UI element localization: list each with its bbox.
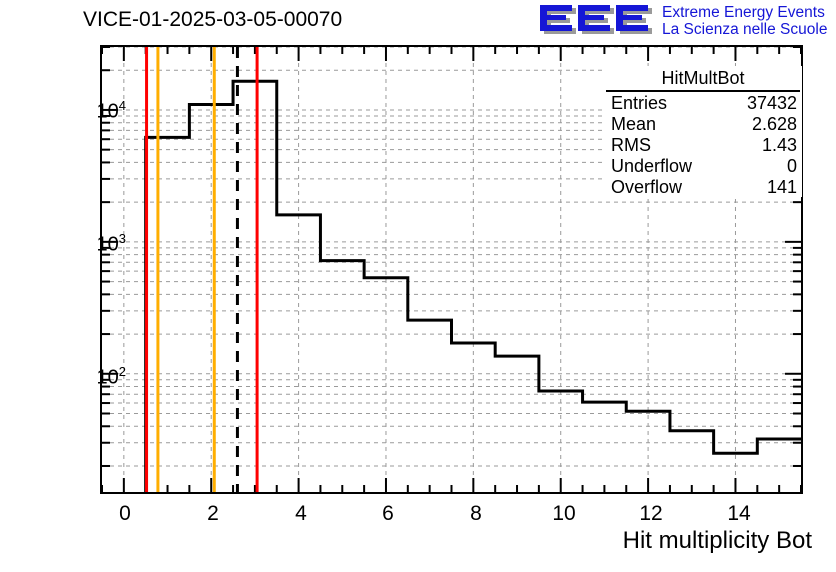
x-axis-title: Hit multiplicity Bot	[623, 527, 812, 555]
x-tick-label-14: 14	[719, 502, 759, 526]
stats-row-underflow: Underflow 0	[605, 156, 801, 177]
stats-row-entries: Entries 37432	[605, 93, 801, 114]
stats-key-entries: Entries	[611, 93, 667, 114]
root-canvas: VICE-01-2025-03-05-00070	[0, 0, 836, 572]
x-tick-label-12: 12	[631, 502, 671, 526]
eee-logo-line2: La Scienza nelle Scuole	[662, 21, 827, 38]
x-tick-label-10: 10	[544, 502, 584, 526]
x-tick-label-6: 6	[368, 502, 408, 526]
stats-key-rms: RMS	[611, 135, 651, 156]
y-tick-label-1e2: 102	[54, 364, 126, 390]
x-tick-label-8: 8	[456, 502, 496, 526]
stats-box: HitMultBot Entries 37432 Mean 2.628 RMS …	[604, 66, 802, 197]
x-tick-label-4: 4	[281, 502, 321, 526]
stats-value-overflow: 141	[767, 177, 797, 198]
stats-value-rms: 1.43	[762, 135, 797, 156]
stats-box-divider	[606, 90, 800, 92]
stats-row-rms: RMS 1.43	[605, 135, 801, 156]
y-tick-label-1e4: 104	[54, 98, 126, 124]
x-tick-label-2: 2	[193, 502, 233, 526]
stats-row-overflow: Overflow 141	[605, 177, 801, 198]
stats-value-entries: 37432	[747, 93, 797, 114]
x-tick-label-0: 0	[105, 502, 145, 526]
page-title: VICE-01-2025-03-05-00070	[83, 8, 342, 32]
stats-value-mean: 2.628	[752, 114, 797, 135]
stats-key-mean: Mean	[611, 114, 656, 135]
stats-box-title: HitMultBot	[605, 67, 801, 90]
eee-logo-icon	[538, 3, 656, 37]
stats-value-underflow: 0	[787, 156, 797, 177]
stats-key-underflow: Underflow	[611, 156, 692, 177]
eee-logo-line1: Extreme Energy Events	[662, 4, 827, 21]
stats-row-mean: Mean 2.628	[605, 114, 801, 135]
eee-logo: Extreme Energy Events La Scienza nelle S…	[538, 2, 834, 42]
stats-key-overflow: Overflow	[611, 177, 682, 198]
y-tick-label-1e3: 103	[54, 231, 126, 257]
eee-logo-text: Extreme Energy Events La Scienza nelle S…	[662, 4, 827, 38]
